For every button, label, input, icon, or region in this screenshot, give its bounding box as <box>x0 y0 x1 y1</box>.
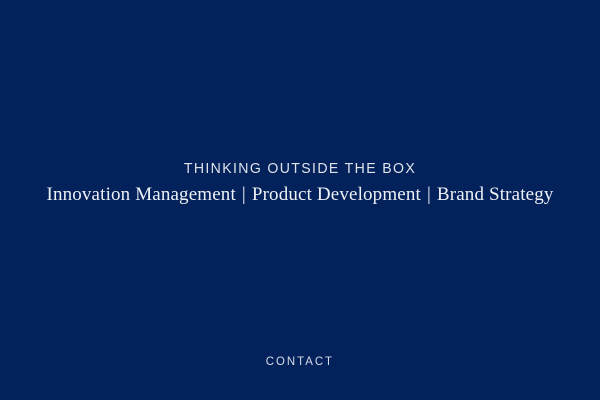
service-separator: | <box>421 184 437 206</box>
service-item-brand-strategy: Brand Strategy <box>437 184 554 205</box>
contact-link[interactable]: CONTACT <box>266 354 334 368</box>
service-item-product-development: Product Development <box>252 184 421 205</box>
contact-area: CONTACT <box>0 352 600 370</box>
page-title: THINKING OUTSIDE THE BOX <box>18 160 582 177</box>
hero-copy-block: THINKING OUTSIDE THE BOX Innovation Mana… <box>0 160 600 206</box>
hero-section: THINKING OUTSIDE THE BOX Innovation Mana… <box>0 0 600 400</box>
services-tagline: Innovation Management|Product Developmen… <box>0 177 600 206</box>
service-separator: | <box>236 184 252 206</box>
service-item-innovation-management: Innovation Management <box>46 184 235 205</box>
